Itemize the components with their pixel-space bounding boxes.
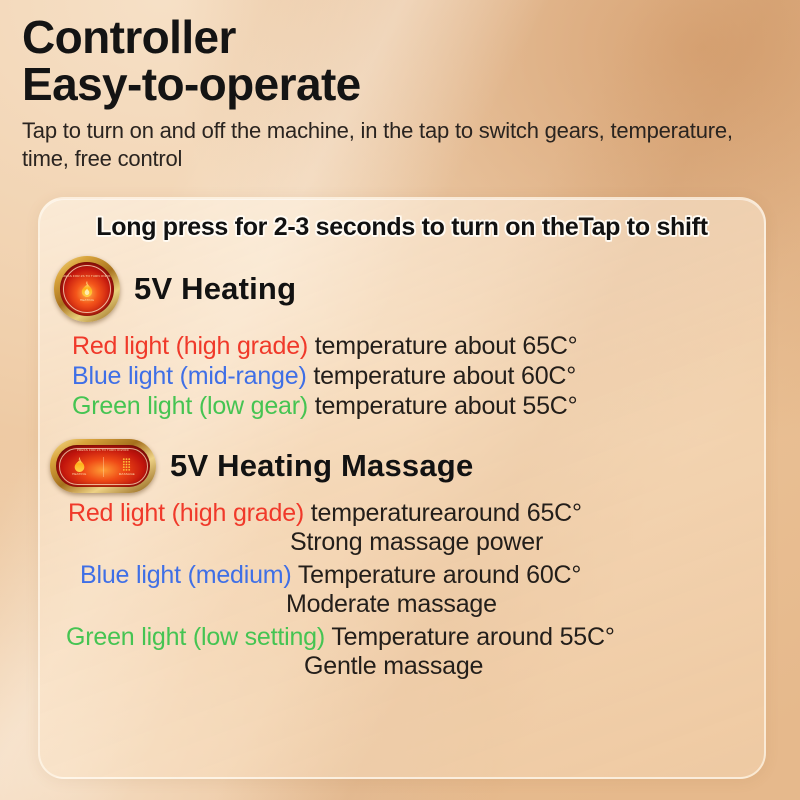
massage-row-blue-main: Blue light (medium) Temperature around 6… — [50, 561, 764, 590]
heating-massage-micro-top: PRESS FOR 2S TO TURN ON/OFF — [56, 449, 150, 453]
heating-row-blue-text: temperature about 60C° — [313, 362, 576, 390]
section-heating-massage-title: 5V Heating Massage — [170, 448, 473, 484]
massage-row-red-sub: Strong massage power — [50, 528, 764, 557]
heating-row-red-text: temperature about 65C° — [315, 332, 578, 360]
page-subtitle: Tap to turn on and off the machine, in t… — [22, 117, 734, 173]
pad-massage-label: MASSAGE — [119, 473, 135, 477]
heating-row-green: Green light (low gear) temperature about… — [54, 392, 764, 421]
massage-row-green-text: Temperature around 55C° — [331, 623, 614, 651]
heating-row-blue-tag: Blue light (mid-range) — [72, 362, 307, 390]
section-heating-rows: Red light (high grade) temperature about… — [54, 332, 764, 421]
massage-row-green-sub: Gentle massage — [50, 652, 764, 681]
section-heating-massage: PRESS FOR 2S TO TURN ON/OFF — [50, 439, 764, 681]
massage-row-green: Green light (low setting) Temperature ar… — [50, 623, 764, 681]
massage-row-red: Red light (high grade) temperaturearound… — [50, 499, 764, 557]
heating-power-button[interactable]: PRESS FOR 2S TO TURN ON/OFF — [54, 256, 120, 322]
massage-row-red-main: Red light (high grade) temperaturearound… — [50, 499, 764, 528]
page-title-line-2: Easy-to-operate — [22, 61, 778, 108]
section-heating-massage-header: PRESS FOR 2S TO TURN ON/OFF — [50, 439, 764, 493]
massage-row-red-text: temperaturearound 65C° — [311, 499, 582, 527]
heating-massage-pads: HEATING — [56, 457, 150, 477]
page-title-line-1: Controller — [22, 14, 778, 61]
flame-icon — [73, 457, 86, 472]
heating-massage-power-button[interactable]: PRESS FOR 2S TO TURN ON/OFF — [50, 439, 156, 493]
massage-row-blue: Blue light (medium) Temperature around 6… — [50, 561, 764, 619]
heating-row-blue: Blue light (mid-range) temperature about… — [54, 362, 764, 391]
section-heating-massage-rows: Red light (high grade) temperaturearound… — [50, 499, 764, 681]
heating-button-face: PRESS FOR 2S TO TURN ON/OFF — [60, 262, 114, 316]
section-heating-title: 5V Heating — [134, 271, 296, 307]
massage-row-green-tag: Green light (low setting) — [66, 623, 325, 651]
heading-block: Controller Easy-to-operate Tap to turn o… — [22, 14, 778, 173]
heating-row-green-text: temperature about 55C° — [315, 392, 578, 420]
pad-heating[interactable]: HEATING — [56, 457, 103, 477]
card-header-note: Long press for 2-3 seconds to turn on th… — [40, 213, 764, 242]
massage-waves-icon — [120, 457, 133, 472]
heating-row-red-tag: Red light (high grade) — [72, 332, 308, 360]
massage-row-blue-tag: Blue light (medium) — [80, 561, 292, 589]
massage-row-red-tag: Red light (high grade) — [68, 499, 304, 527]
infographic-page: Controller Easy-to-operate Tap to turn o… — [0, 0, 800, 800]
pad-massage[interactable]: MASSAGE — [103, 457, 151, 477]
pad-heating-label: HEATING — [72, 473, 86, 477]
flame-icon — [80, 281, 94, 297]
massage-row-blue-text: Temperature around 60C° — [298, 561, 581, 589]
section-heating-header: PRESS FOR 2S TO TURN ON/OFF — [54, 256, 764, 322]
heating-massage-button-face: PRESS FOR 2S TO TURN ON/OFF — [56, 445, 150, 487]
heating-button-micro-top: PRESS FOR 2S TO TURN ON/OFF — [61, 275, 113, 279]
heating-button-micro-bottom: HEATING — [80, 299, 94, 303]
heating-row-red: Red light (high grade) temperature about… — [54, 332, 764, 361]
section-heating: PRESS FOR 2S TO TURN ON/OFF — [54, 256, 764, 421]
massage-row-green-main: Green light (low setting) Temperature ar… — [50, 623, 764, 652]
heating-massage-micro-top-wrap: PRESS FOR 2S TO TURN ON/OFF — [56, 449, 150, 453]
massage-row-blue-sub: Moderate massage — [50, 590, 764, 619]
heating-row-green-tag: Green light (low gear) — [72, 392, 308, 420]
instruction-card: Long press for 2-3 seconds to turn on th… — [38, 197, 766, 779]
